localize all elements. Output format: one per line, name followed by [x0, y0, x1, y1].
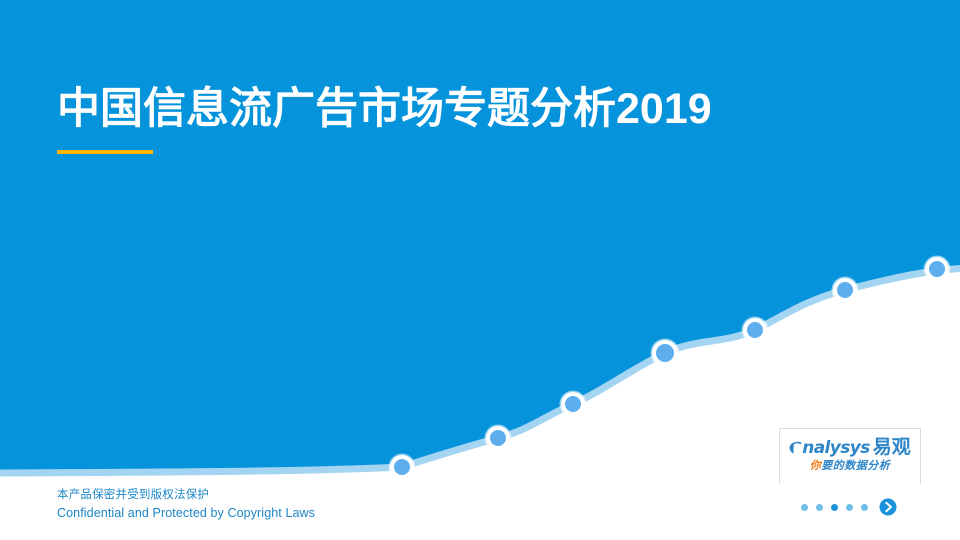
title-underline-rule [57, 150, 153, 154]
confidentiality-note-chinese: 本产品保密并受到版权法保护 [57, 487, 315, 504]
logo-wordmark: nalysys易观 [780, 437, 920, 459]
data-point-marker [389, 454, 416, 481]
logo-tagline-rest: 要的数据分析 [821, 460, 890, 472]
data-point-marker [832, 277, 859, 304]
analysys-logo-panel: nalysys易观 你要的数据分析 [779, 428, 921, 484]
logo-wordmark-latin: nalysys [802, 438, 870, 458]
logo-wordmark-cjk: 易观 [873, 436, 911, 458]
pager-dot-4[interactable] [846, 504, 853, 511]
slide-pager[interactable] [801, 498, 897, 516]
next-slide-arrow-icon[interactable] [879, 498, 897, 516]
data-point-marker [485, 425, 512, 452]
data-point-marker [651, 339, 680, 368]
pager-dot-1[interactable] [801, 504, 808, 511]
pager-dot-5[interactable] [861, 504, 868, 511]
data-point-marker [924, 256, 951, 283]
data-point-marker [742, 317, 769, 344]
title-block: 中国信息流广告市场专题分析2019 [57, 80, 712, 154]
cover-slide: 中国信息流广告市场专题分析2019 本产品保密并受到版权法保护 Confiden… [0, 0, 960, 540]
confidentiality-note: 本产品保密并受到版权法保护 Confidential and Protected… [57, 487, 315, 523]
page-title: 中国信息流广告市场专题分析2019 [57, 80, 712, 138]
confidentiality-note-english: Confidential and Protected by Copyright … [57, 504, 315, 523]
analysys-swoosh-icon [789, 441, 802, 455]
data-point-marker [560, 391, 587, 418]
logo-tagline-highlight: 你 [810, 460, 822, 472]
logo-tagline: 你要的数据分析 [780, 459, 920, 474]
pager-dot-2[interactable] [816, 504, 823, 511]
pager-dot-3[interactable] [831, 504, 838, 511]
